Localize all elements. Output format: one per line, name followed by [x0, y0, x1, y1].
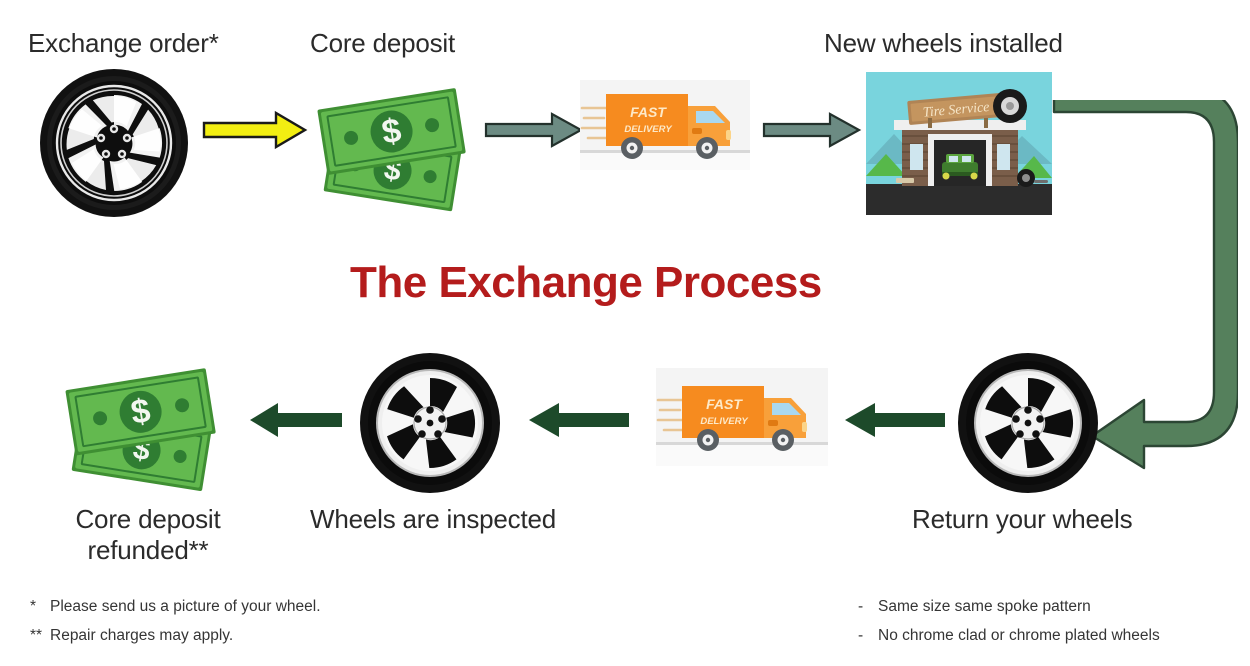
- delivery-truck-icon: FAST DELIVERY: [656, 368, 828, 466]
- footnote-mark: **: [30, 621, 50, 650]
- footnote-left-2: **Repair charges may apply.: [30, 621, 321, 650]
- arrow-left-green-1: [248, 400, 344, 445]
- arrow-left-green-2: [527, 400, 631, 445]
- truck-icon-top: FAST DELIVERY: [580, 80, 750, 175]
- label-core-deposit-refunded: Core deposit refunded**: [38, 504, 258, 565]
- truck-label-fast: FAST: [630, 104, 667, 120]
- label-exchange-order: Exchange order*: [28, 28, 219, 59]
- label-core-deposit-refunded-line1: Core deposit: [75, 504, 220, 534]
- tire-wheel-dark-icon: [38, 68, 190, 218]
- wheel-silver-icon-right: [956, 352, 1100, 499]
- cash-banknotes-icon: $ $: [310, 72, 480, 212]
- arrow-right-slate-2: [762, 110, 862, 155]
- footnote-left-1: *Please send us a picture of your wheel.: [30, 592, 321, 621]
- label-new-wheels-installed: New wheels installed: [824, 28, 1063, 59]
- wheel-silver-icon-middle: [358, 352, 502, 499]
- footnotes-left: *Please send us a picture of your wheel.…: [30, 592, 321, 651]
- truck-label-fast: FAST: [706, 396, 743, 412]
- truck-label-delivery: DELIVERY: [700, 416, 749, 427]
- delivery-truck-icon: FAST DELIVERY: [580, 80, 750, 170]
- footnote-right-2: -No chrome clad or chrome plated wheels: [858, 621, 1160, 650]
- footnote-mark: *: [30, 592, 50, 621]
- footnote-mark: -: [858, 592, 878, 621]
- footnote-text: No chrome clad or chrome plated wheels: [878, 627, 1160, 644]
- footnote-right-1: -Same size same spoke pattern: [858, 592, 1160, 621]
- arrow-left-green-3: [843, 400, 947, 445]
- footnote-text: Please send us a picture of your wheel.: [50, 598, 321, 615]
- truck-icon-bottom: FAST DELIVERY: [656, 368, 828, 471]
- cash-icon-bottom: $ $: [58, 352, 234, 497]
- arrow-right-slate-1: [484, 110, 584, 155]
- label-core-deposit-refunded-line2: refunded**: [88, 535, 209, 565]
- cash-banknotes-icon: $ $: [58, 352, 234, 492]
- footnote-text: Repair charges may apply.: [50, 627, 233, 644]
- page-title: The Exchange Process: [350, 258, 822, 308]
- footnotes-right: -Same size same spoke pattern -No chrome…: [858, 592, 1160, 651]
- cash-icon-top: $ $: [310, 72, 480, 217]
- exchange-process-diagram: Exchange order* Core deposit New wheels …: [0, 0, 1250, 666]
- label-core-deposit: Core deposit: [310, 28, 455, 59]
- label-wheels-are-inspected: Wheels are inspected: [310, 504, 556, 535]
- shop-icon: Tire Service: [866, 72, 1052, 220]
- label-return-your-wheels: Return your wheels: [912, 504, 1132, 535]
- tire-wheel-silver-icon: [956, 352, 1100, 494]
- footnote-mark: -: [858, 621, 878, 650]
- footnote-text: Same size same spoke pattern: [878, 598, 1091, 615]
- tire-wheel-silver-icon: [358, 352, 502, 494]
- tire-service-shop-icon: Tire Service: [866, 72, 1052, 215]
- wheel-dark-icon-top: [38, 68, 190, 223]
- arrow-right-yellow: [202, 110, 308, 155]
- truck-label-delivery: DELIVERY: [624, 124, 673, 135]
